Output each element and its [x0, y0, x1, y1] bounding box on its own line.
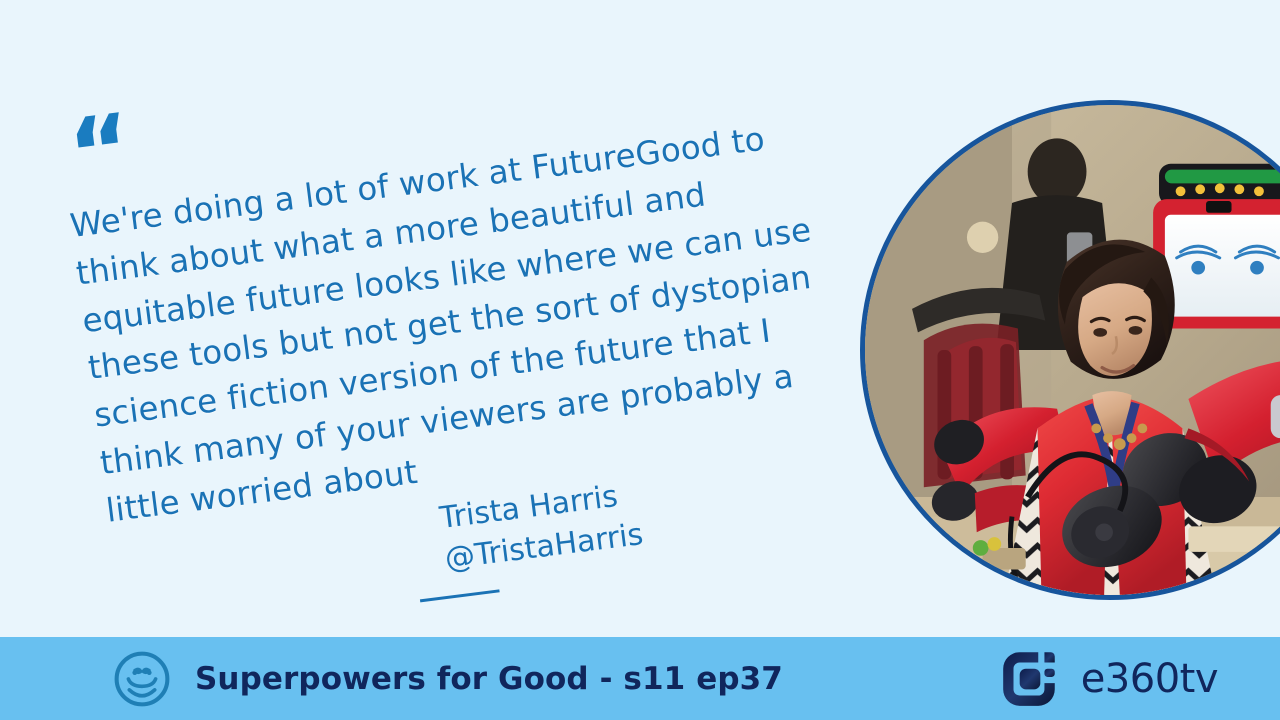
show-branding: Superpowers for Good - s11 ep37 [113, 650, 783, 708]
show-title: Superpowers for Good - s11 ep37 [195, 661, 783, 697]
e360tv-mark-icon [997, 646, 1063, 712]
quote-block: “ We're doing a lot of work at FutureGoo… [58, 29, 904, 622]
slide-canvas: “ We're doing a lot of work at FutureGoo… [0, 0, 1280, 720]
bottom-bar: Superpowers for Good - s11 ep37 [0, 637, 1280, 720]
smiley-face-logo-icon [113, 650, 171, 708]
network-branding: e360tv [997, 646, 1218, 712]
guest-portrait [860, 100, 1280, 600]
attribution-rule [420, 589, 500, 602]
network-name: e360tv [1081, 656, 1218, 702]
guest-photo [865, 105, 1280, 595]
